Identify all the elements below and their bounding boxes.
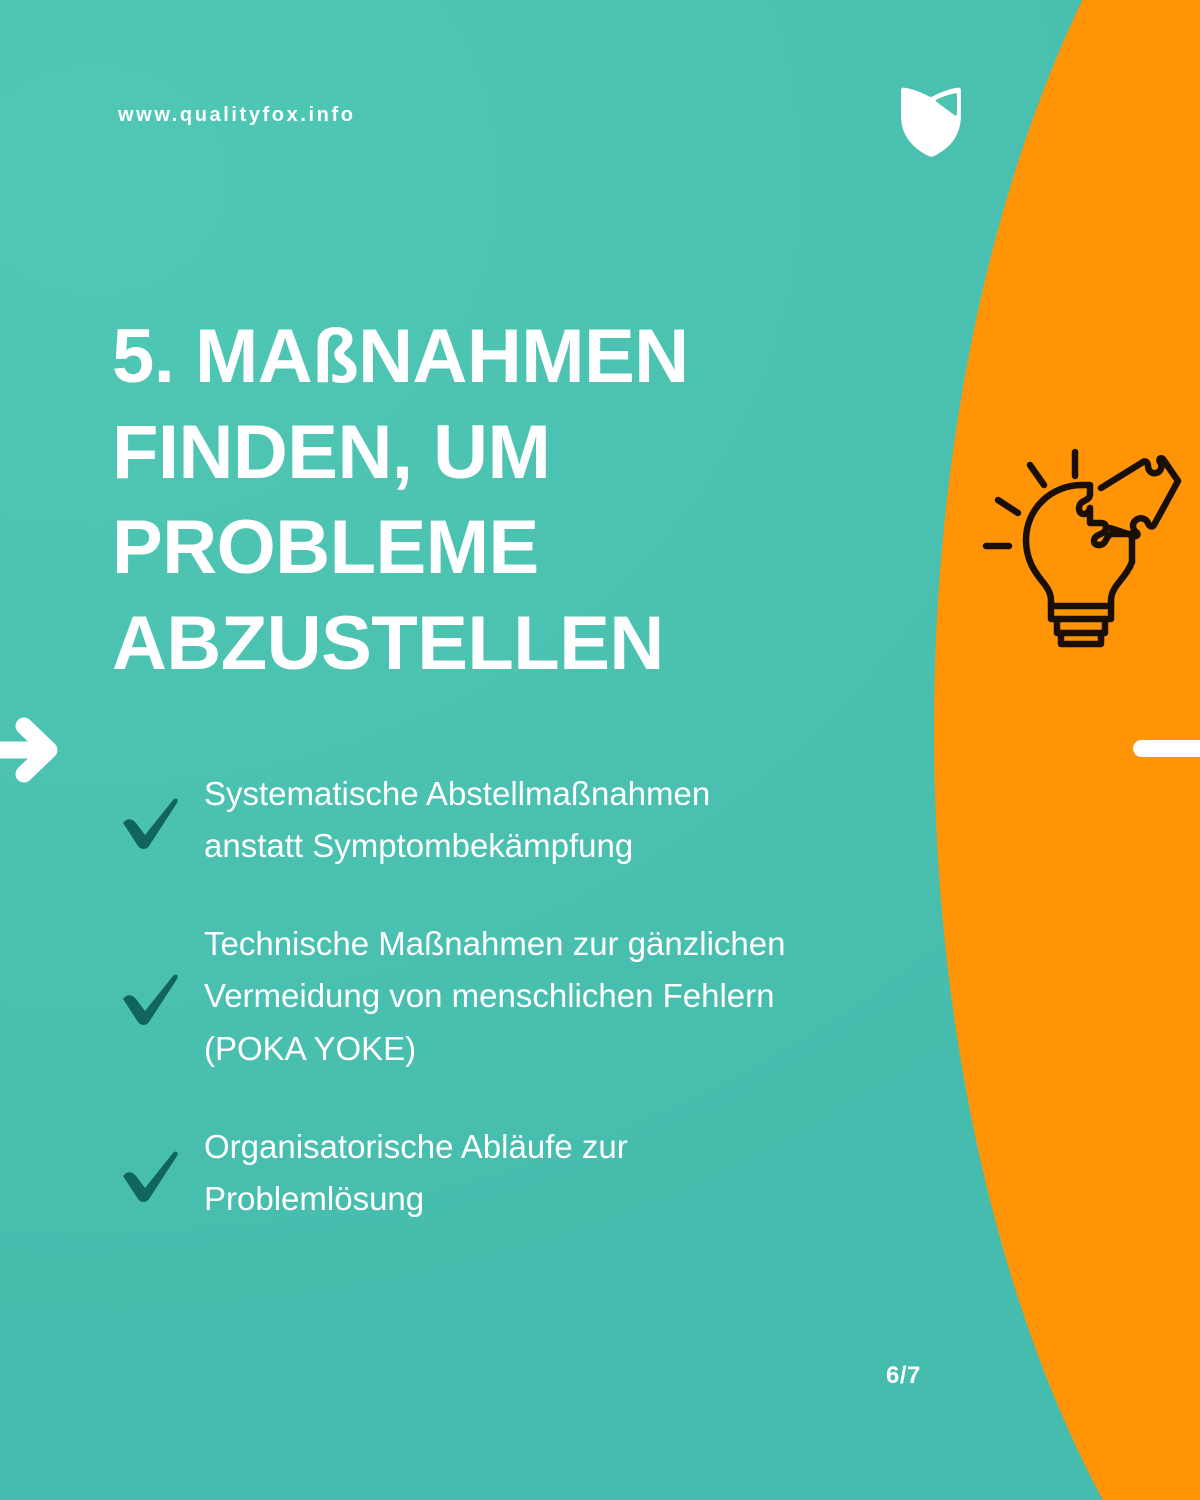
list-item-line: Vermeidung von menschlichen Fehlern (204, 970, 785, 1022)
headline-line-3: PROBLEME (112, 500, 872, 596)
list-item: Organisatorische Abläufe zur Problemlösu… (118, 1121, 928, 1225)
checkmark-icon (118, 1143, 182, 1203)
lightbulb-puzzle-icon (968, 428, 1184, 668)
shield-fox-logo-icon (899, 86, 965, 158)
slide-canvas: www.qualityfox.info 5. MAßNAHMEN FINDEN,… (0, 0, 1200, 1500)
headline-line-4: ABZUSTELLEN (112, 596, 872, 692)
dash-icon (1133, 740, 1200, 757)
arrow-right-icon (0, 702, 70, 798)
list-item-line: Problemlösung (204, 1173, 628, 1225)
list-item-line: Organisatorische Abläufe zur (204, 1121, 628, 1173)
headline-line-1: 5. MAßNAHMEN (112, 309, 872, 405)
list-item-line: anstatt Symptombekämpfung (204, 820, 710, 872)
list-item-line: (POKA YOKE) (204, 1023, 785, 1075)
list-item-text: Technische Maßnahmen zur gänzlichen Verm… (204, 918, 785, 1074)
checkmark-icon (118, 966, 182, 1026)
checkmark-icon (118, 790, 182, 850)
list-item: Systematische Abstellmaßnahmen anstatt S… (118, 768, 928, 872)
list-item-line: Systematische Abstellmaßnahmen (204, 768, 710, 820)
site-url: www.qualityfox.info (118, 104, 356, 127)
headline-line-2: FINDEN, UM (112, 405, 872, 501)
list-item-text: Organisatorische Abläufe zur Problemlösu… (204, 1121, 628, 1225)
list-item: Technische Maßnahmen zur gänzlichen Verm… (118, 918, 928, 1074)
bullet-list: Systematische Abstellmaßnahmen anstatt S… (118, 768, 928, 1225)
list-item-text: Systematische Abstellmaßnahmen anstatt S… (204, 768, 710, 872)
list-item-line: Technische Maßnahmen zur gänzlichen (204, 918, 785, 970)
page-indicator: 6/7 (886, 1362, 921, 1390)
page-title: 5. MAßNAHMEN FINDEN, UM PROBLEME ABZUSTE… (112, 309, 872, 692)
